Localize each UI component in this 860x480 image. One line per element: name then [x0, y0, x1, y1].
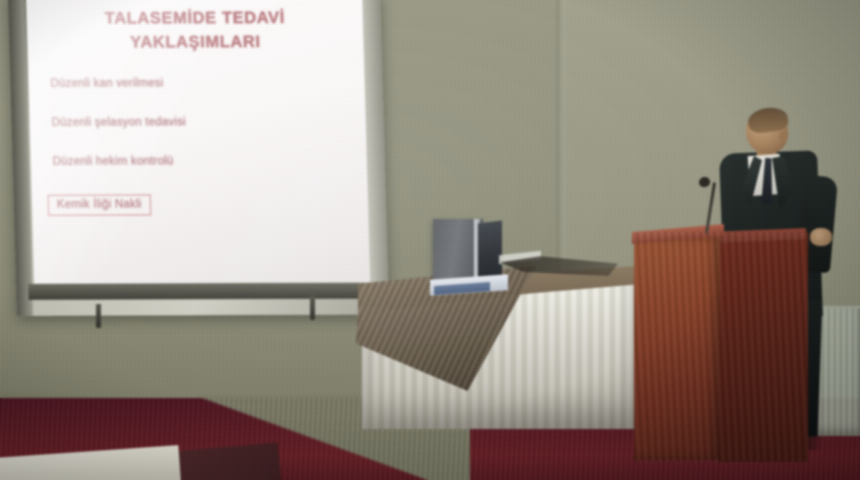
screen-hook-left	[96, 304, 101, 328]
slide-title-line-2: YAKLAŞIMLARI	[37, 31, 354, 56]
screen-surface: TALASEMİDE TEDAVİ YAKLAŞIMLARI Düzenli k…	[26, 0, 370, 288]
slide-bullet-2: Düzenli şelasyon tedavisi	[51, 116, 355, 129]
presenter-hand	[810, 228, 832, 246]
presentation-photo: TALASEMİDE TEDAVİ YAKLAŞIMLARI Düzenli k…	[0, 0, 860, 480]
slide-bullet-1: Düzenli kan verilmesi	[50, 77, 354, 90]
slide-title: TALASEMİDE TEDAVİ YAKLAŞIMLARI	[36, 7, 353, 56]
slide-content: TALASEMİDE TEDAVİ YAKLAŞIMLARI Düzenli k…	[26, 0, 370, 288]
projection-screen: TALASEMİDE TEDAVİ YAKLAŞIMLARI Düzenli k…	[8, 0, 389, 324]
slide-boxed-item: Kemik İliği Nakli	[48, 194, 151, 215]
slide-boxed-wrap: Kemik İliği Nakli	[42, 194, 359, 216]
slide-title-line-1: TALASEMİDE TEDAVİ	[36, 7, 353, 32]
slide-bullet-list: Düzenli kan verilmesi Düzenli şelasyon t…	[38, 77, 357, 168]
slide-bullet-3: Düzenli hekim kontrolü	[53, 155, 357, 168]
screen-bottom-bar	[28, 283, 381, 300]
pc-tower-side-panel	[478, 221, 502, 281]
lectern-wood-grain	[634, 232, 808, 462]
screen-hook-right	[310, 296, 315, 320]
presenter-ear	[779, 131, 788, 143]
